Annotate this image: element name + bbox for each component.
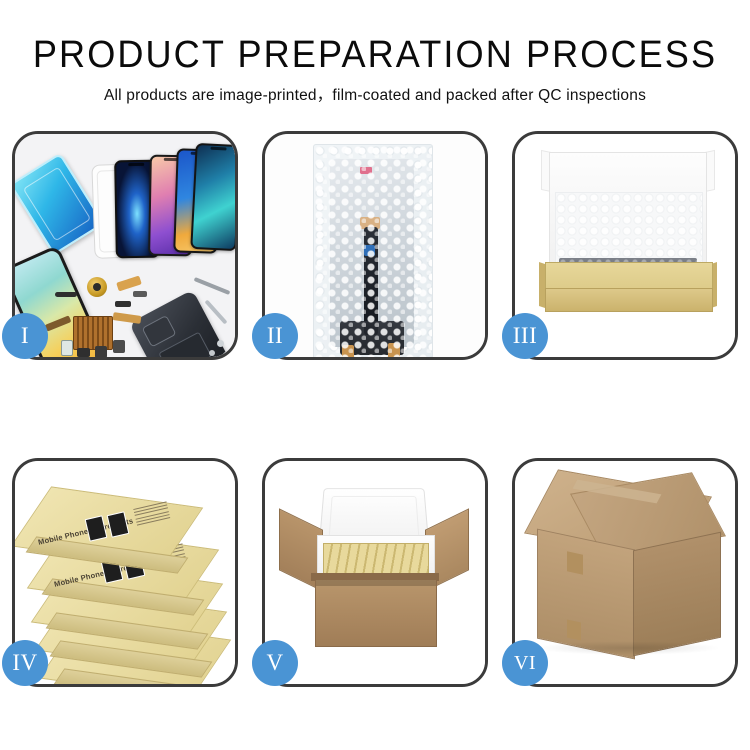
grid-row-gap [0,363,750,458]
gold-contact-1-icon [342,345,354,357]
packed-retail-boxes [323,543,429,577]
process-steps-grid: I [0,131,750,701]
screw-3-icon [223,352,229,357]
carton-tab-upper [567,551,583,574]
small-part-4-icon [113,340,125,353]
driver-chip-icon [364,245,375,256]
gold-contact-2-icon [388,343,400,357]
product-preparation-infographic: PRODUCT PREPARATION PROCESS All products… [0,0,750,750]
carton-body [315,579,437,647]
kraft-tray-box-image [515,134,735,357]
spare-parts-collage-image [15,134,235,357]
carton-side-face [633,532,721,657]
grid-cell-4: Mobile Phone Spare Parts Mobile Phone Sp… [0,458,250,690]
screen-protector-film-icon [15,152,105,255]
step-badge-4: IV [2,640,48,686]
pink-label-icon [360,167,372,174]
step-badge-1: I [2,313,48,359]
flex-ribbon-icon [364,227,378,335]
flex-cable-1-icon [116,276,142,292]
phone-display-4 [190,143,235,251]
small-part-3-icon [95,346,107,357]
carton-shadow [535,641,721,655]
step-badge-3: III [502,313,548,359]
kraft-tray-front [545,288,713,312]
foam-sheet [555,192,703,268]
header: PRODUCT PREPARATION PROCESS All products… [0,0,750,105]
page-title: PRODUCT PREPARATION PROCESS [19,34,732,76]
small-part-2-icon [77,348,90,357]
small-part-5-icon [115,301,131,307]
tool-cable-1-icon [194,277,231,295]
speaker-part-icon [55,292,77,297]
bubble-wrap-bag [313,144,433,357]
step-badge-5: V [252,640,298,686]
screw-2-icon [209,350,215,356]
phone-back-housing [129,290,229,357]
step-badge-2: II [252,313,298,359]
carton-front-face [537,529,635,660]
small-part-1-icon [61,340,73,356]
grid-cell-5: V [250,458,500,690]
foam-lined-carton-image [265,461,485,684]
grid-cell-2: II [250,131,500,363]
page-subtitle: All products are image-printed，film-coat… [0,83,750,105]
flex-cable-2-icon [113,312,142,324]
carton-tab-lower [567,620,581,641]
small-part-6-icon [133,291,147,297]
wireless-charging-coil-icon [87,277,107,297]
sealed-shipping-carton-image [515,461,735,684]
lcd-screen-assembly [330,159,414,347]
grid-cell-3: III [500,131,750,363]
grid-cell-6: VI [500,458,750,690]
grid-cell-1: I [0,131,250,363]
screw-1-icon [217,340,224,347]
step-badge-6: VI [502,640,548,686]
bubble-wrapped-lcd-image [265,134,485,357]
copper-shield-grid-icon [73,316,113,350]
stacked-retail-boxes-image: Mobile Phone Spare Parts Mobile Phone Sp… [15,461,235,684]
